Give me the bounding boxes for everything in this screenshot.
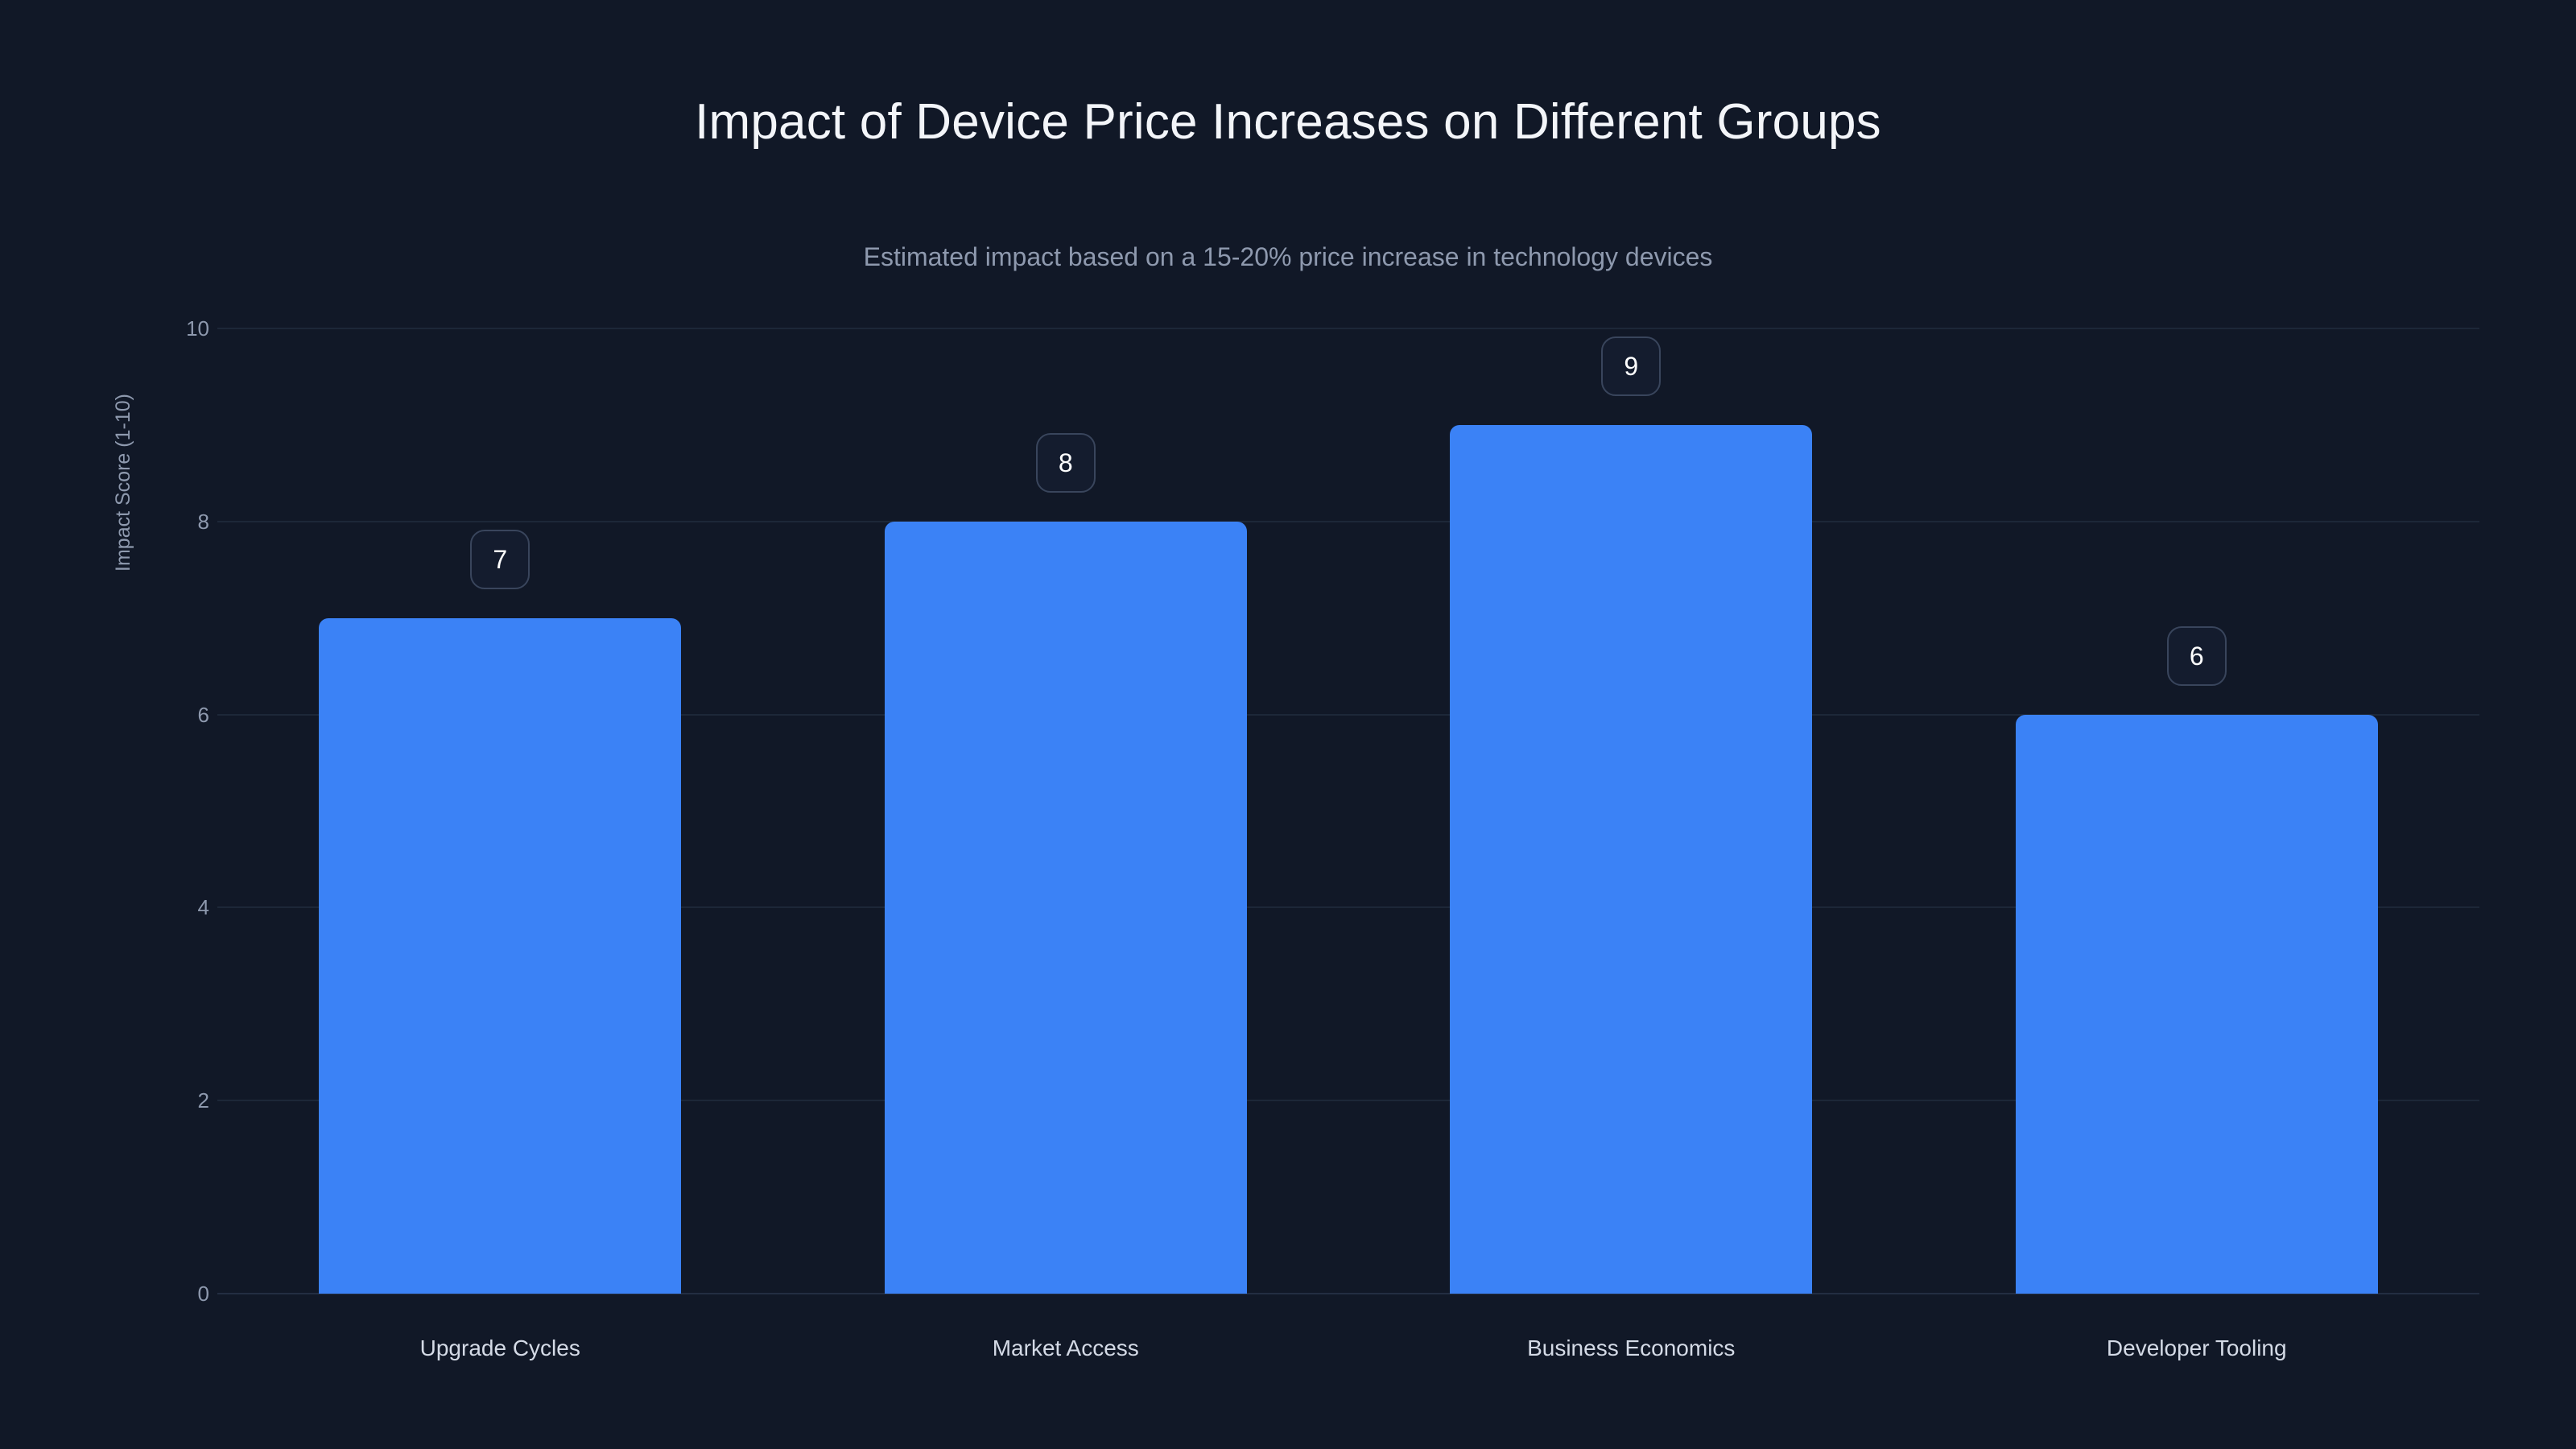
gridline [217,521,2479,522]
y-axis-tick-label: 6 [177,704,209,725]
bar[interactable] [885,522,1247,1294]
chart-subtitle: Estimated impact based on a 15-20% price… [0,242,2576,272]
y-axis-tick-label: 10 [177,318,209,339]
plot-area [217,328,2479,1294]
y-axis-tick-label: 8 [177,511,209,532]
x-axis-category-label: Market Access [824,1337,1307,1360]
y-axis-tick-label: 2 [177,1090,209,1111]
y-axis-title-text: Impact Score (1-10) [112,394,135,572]
y-axis-tick-label: 4 [177,897,209,918]
bar-value-badge: 7 [470,530,530,589]
bar[interactable] [1450,425,1812,1294]
x-axis-category-label: Upgrade Cycles [258,1337,741,1360]
gridline [217,328,2479,329]
bar-value-badge: 8 [1036,433,1096,493]
chart-title: Impact of Device Price Increases on Diff… [0,95,2576,150]
bar-value-badge: 6 [2167,626,2227,686]
x-axis-category-label: Developer Tooling [1955,1337,2438,1360]
x-axis-category-label: Business Economics [1389,1337,1872,1360]
bar[interactable] [2016,715,2378,1294]
bar-value-badge: 9 [1601,336,1661,396]
y-axis-title: Impact Score (1-10) [107,0,139,965]
bar[interactable] [319,618,681,1294]
bar-chart: Impact of Device Price Increases on Diff… [0,0,2576,1449]
y-axis-tick-label: 0 [177,1283,209,1304]
